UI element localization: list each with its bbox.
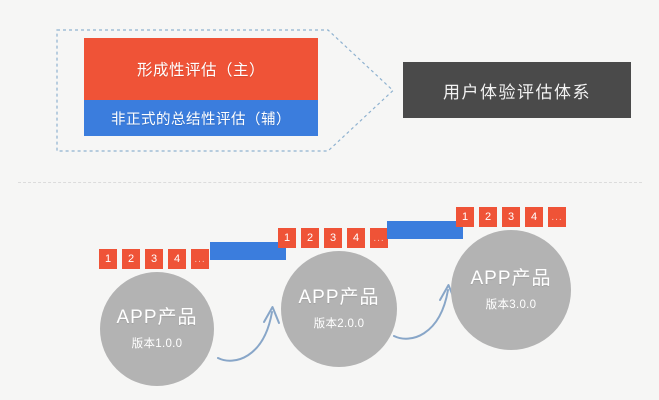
arrow-1-path (218, 312, 272, 361)
chip: 4 (347, 228, 365, 248)
product-version: 版本2.0.0 (314, 315, 365, 331)
product-circle-stage-1: APP产品 版本1.0.0 (100, 272, 214, 386)
chip-ellipsis: ... (370, 228, 388, 248)
section-divider (18, 182, 642, 183)
chip: 3 (502, 207, 520, 227)
product-circle-stage-2: APP产品 版本2.0.0 (281, 251, 397, 367)
chip: 1 (99, 249, 117, 269)
release-bar-stage-1 (210, 242, 286, 260)
product-title: APP产品 (116, 307, 197, 330)
chip-row-stage-3: 1 2 3 4 ... (456, 207, 566, 227)
chip: 1 (456, 207, 474, 227)
arrow-2-path (394, 290, 448, 339)
chip-ellipsis: ... (548, 207, 566, 227)
system-title-box: 用户体验评估体系 (403, 62, 631, 118)
chip-row-stage-2: 1 2 3 4 ... (278, 228, 388, 248)
chip: 3 (145, 249, 163, 269)
release-bar-stage-2 (387, 221, 463, 239)
chip-ellipsis: ... (191, 249, 209, 269)
product-title: APP产品 (298, 287, 379, 310)
chip: 2 (301, 228, 319, 248)
chip: 2 (479, 207, 497, 227)
evaluation-block-primary: 形成性评估（主） (84, 38, 318, 100)
chip: 2 (122, 249, 140, 269)
chip: 1 (278, 228, 296, 248)
product-version: 版本1.0.0 (132, 335, 183, 351)
chip: 3 (324, 228, 342, 248)
product-version: 版本3.0.0 (486, 296, 537, 312)
diagram-canvas: 形成性评估（主） 非正式的总结性评估（辅） 用户体验评估体系 1 2 3 4 .… (0, 0, 659, 400)
chip: 4 (168, 249, 186, 269)
product-title: APP产品 (470, 268, 551, 291)
evaluation-block-secondary: 非正式的总结性评估（辅） (84, 100, 318, 136)
product-circle-stage-3: APP产品 版本3.0.0 (451, 230, 571, 350)
chip: 4 (525, 207, 543, 227)
chip-row-stage-1: 1 2 3 4 ... (99, 249, 209, 269)
arrow-1-head (264, 307, 279, 323)
evaluation-block-stack: 形成性评估（主） 非正式的总结性评估（辅） (84, 38, 318, 136)
